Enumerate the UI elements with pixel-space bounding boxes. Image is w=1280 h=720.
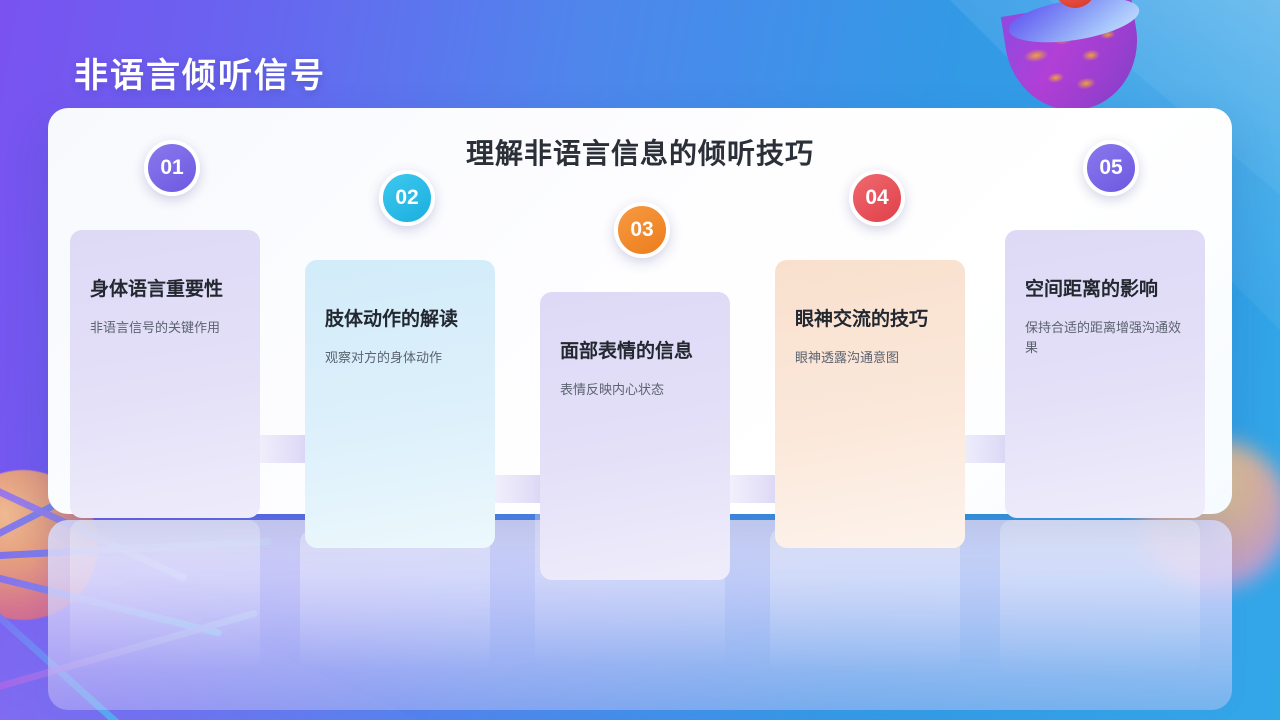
reflection-card <box>70 520 260 670</box>
step-title-2: 肢体动作的解读 <box>325 308 479 332</box>
reflection-card <box>300 530 490 670</box>
step-card-1[interactable]: 01 身体语言重要性 非语言信号的关键作用 <box>70 230 260 518</box>
step-title-4: 眼神交流的技巧 <box>795 308 949 332</box>
step-desc-1: 非语言信号的关键作用 <box>90 318 242 338</box>
step-badge-2: 02 <box>379 170 435 226</box>
step-badge-3: 03 <box>614 202 670 258</box>
step-card-3[interactable]: 03 面部表情的信息 表情反映内心状态 <box>540 292 730 580</box>
step-card-5[interactable]: 05 空间距离的影响 保持合适的距离增强沟通效果 <box>1005 230 1205 518</box>
step-desc-5: 保持合适的距离增强沟通效果 <box>1025 318 1187 358</box>
reflection-card <box>770 528 960 673</box>
step-desc-4: 眼神透露沟通意图 <box>795 348 947 368</box>
step-card-2[interactable]: 02 肢体动作的解读 观察对方的身体动作 <box>305 260 495 548</box>
step-badge-4: 04 <box>849 170 905 226</box>
step-badge-5: 05 <box>1083 140 1139 196</box>
step-title-5: 空间距离的影响 <box>1025 278 1189 302</box>
page-title: 非语言倾听信号 <box>74 48 326 97</box>
step-desc-3: 表情反映内心状态 <box>560 380 712 400</box>
step-title-1: 身体语言重要性 <box>90 278 244 302</box>
step-badge-1: 01 <box>144 140 200 196</box>
step-title-3: 面部表情的信息 <box>560 340 714 364</box>
step-desc-2: 观察对方的身体动作 <box>325 348 477 368</box>
content-panel: 理解非语言信息的倾听技巧 01 身体语言重要性 非语言信号的关键作用 02 肢体… <box>48 108 1232 514</box>
step-card-4[interactable]: 04 眼神交流的技巧 眼神透露沟通意图 <box>775 260 965 548</box>
panel-heading: 理解非语言信息的倾听技巧 <box>48 132 1232 172</box>
reflection-card <box>1000 520 1200 675</box>
